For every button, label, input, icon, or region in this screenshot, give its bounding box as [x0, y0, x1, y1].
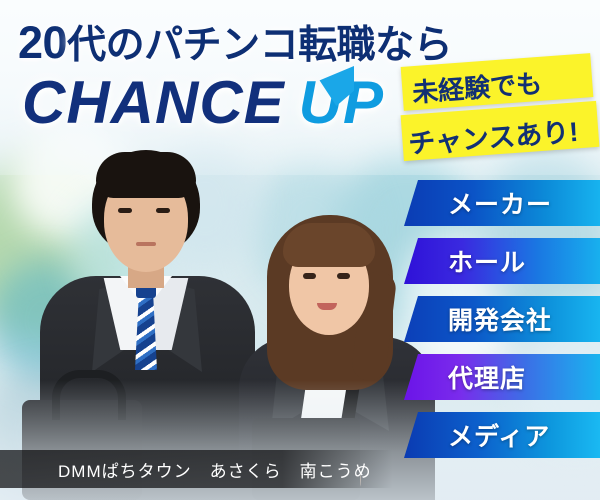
page-title: 20代のパチンコ転職なら — [18, 14, 452, 70]
category-label: 代理店 — [448, 359, 526, 395]
category-label: 開発会社 — [448, 301, 552, 337]
male-mouth — [136, 242, 156, 246]
category-list: メーカー ホール 開発会社 代理店 メディア — [404, 180, 600, 470]
category-button-maker[interactable]: メーカー — [404, 180, 600, 226]
category-button-hall[interactable]: ホール — [404, 238, 600, 284]
female-eye-left — [303, 273, 316, 279]
category-button-media[interactable]: メディア — [404, 412, 600, 458]
headline-text: 代のパチンコ転職なら — [67, 24, 452, 67]
caption-text: DMMぱちタウン あさくら 南こうめ — [58, 457, 372, 482]
category-button-developer[interactable]: 開発会社 — [404, 296, 600, 342]
female-eye-right — [337, 273, 350, 279]
category-label: メディア — [448, 417, 550, 453]
category-label: ホール — [448, 243, 526, 279]
male-fringe — [96, 152, 196, 198]
headline-number: 20 — [18, 17, 67, 68]
category-button-agency[interactable]: 代理店 — [404, 354, 600, 400]
category-label: メーカー — [448, 185, 552, 221]
status-badge: 未経験でも チャンスあり! — [398, 58, 598, 158]
advertisement-banner[interactable]: 20代のパチンコ転職なら CHANCEUP 未経験でも チャンスあり! メーカー… — [0, 0, 600, 500]
male-eye-left — [118, 208, 132, 213]
logo-word-chance: CHANCE — [22, 69, 285, 136]
female-bangs — [283, 223, 375, 267]
caption-bar: DMMぱちタウン あさくら 南こうめ — [0, 450, 392, 488]
male-eye-right — [156, 208, 170, 213]
